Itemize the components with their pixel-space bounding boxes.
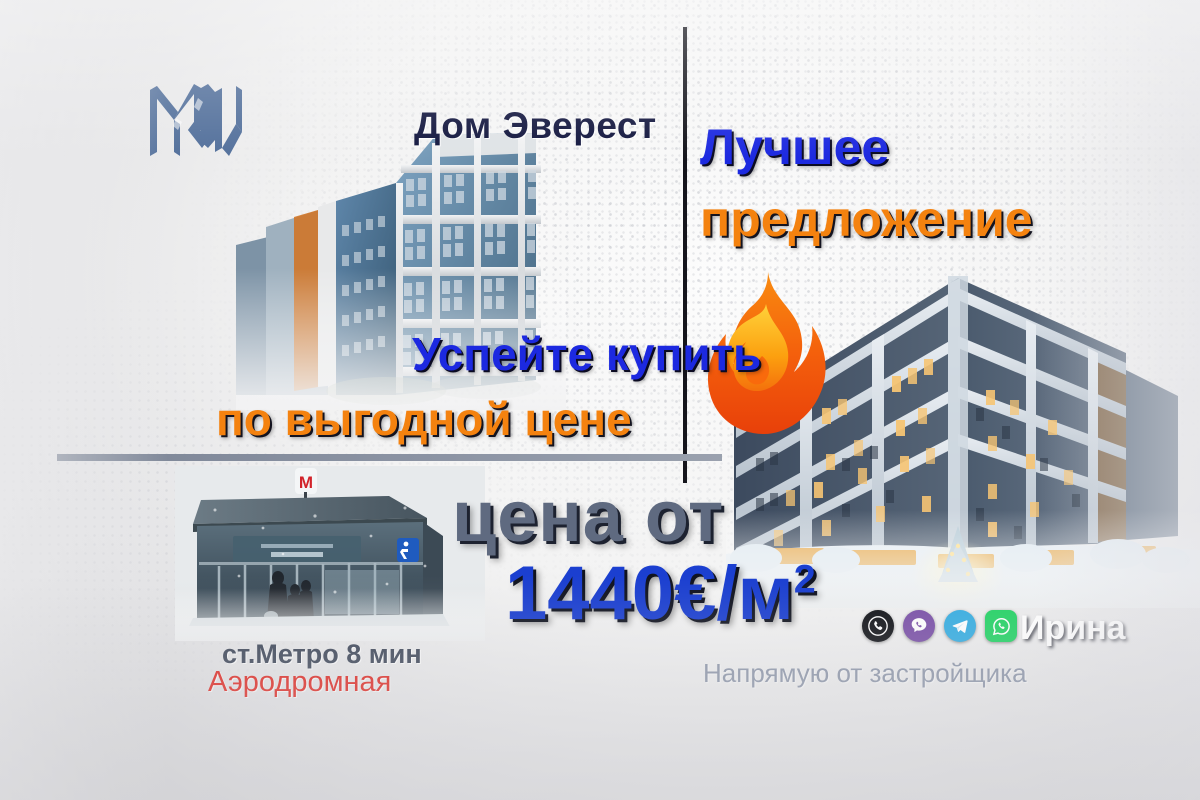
background-vignette xyxy=(0,0,1200,800)
advertisement-poster: M xyxy=(0,0,1200,800)
